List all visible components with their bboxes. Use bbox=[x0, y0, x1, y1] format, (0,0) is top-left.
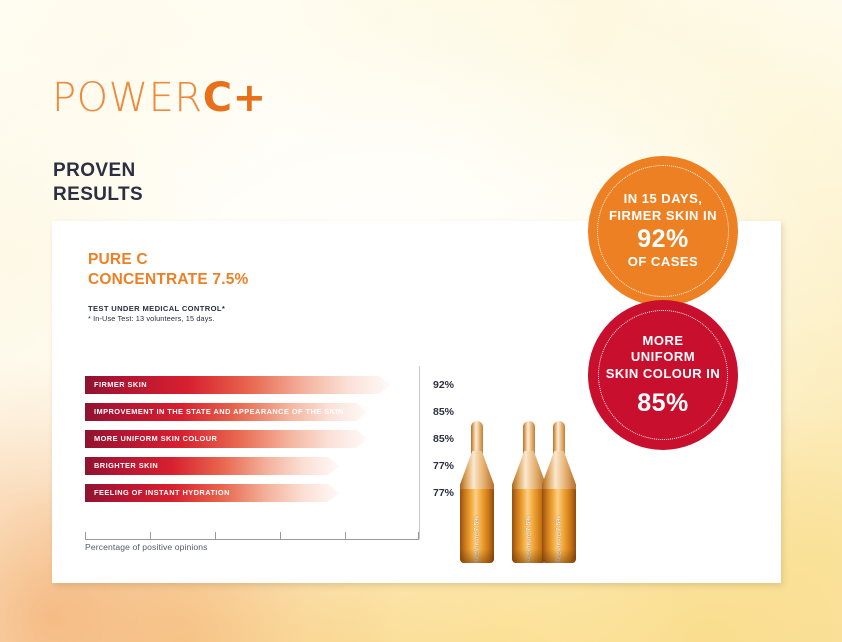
ampoule-label-name: PURE C CONCENTRATE bbox=[557, 533, 562, 563]
bar-label: FEELING OF INSTANT HYDRATION bbox=[94, 484, 230, 502]
table-row: MORE UNIFORM SKIN COLOUR 85% bbox=[85, 430, 475, 448]
ampoule-label-name: PURE C CONCENTRATE bbox=[475, 533, 480, 563]
ampoule-neck bbox=[471, 421, 483, 455]
bar-value: 77% bbox=[433, 457, 454, 475]
ampoule-body: PURE C CONCENTRATE 7.5% bbox=[542, 489, 576, 563]
test-disclaimer-heading: TEST UNDER MEDICAL CONTROL* bbox=[88, 304, 225, 314]
badge-line3: SKIN COLOUR IN bbox=[606, 366, 721, 383]
ampoule: PURE C CONCENTRATE 7.5% bbox=[460, 421, 494, 563]
bar-label: FIRMER SKIN bbox=[94, 376, 147, 394]
bar-track: BRIGHTER SKIN bbox=[85, 457, 340, 475]
test-disclaimer: TEST UNDER MEDICAL CONTROL* * In-Use Tes… bbox=[88, 304, 225, 325]
product-name: PURE C CONCENTRATE 7.5% bbox=[88, 250, 249, 290]
badge-value: 92% bbox=[609, 225, 717, 253]
table-row: BRIGHTER SKIN 77% bbox=[85, 457, 475, 475]
badge-line3: OF CASES bbox=[609, 254, 717, 271]
page-title-line2: RESULTS bbox=[53, 183, 143, 207]
ampoule-neck bbox=[523, 421, 535, 455]
badge-line1: IN 15 DAYS, bbox=[609, 191, 717, 208]
axis-tick bbox=[345, 532, 346, 539]
table-row: FIRMER SKIN 92% bbox=[85, 376, 475, 394]
axis-tick bbox=[215, 532, 216, 539]
ampoule-label: PURE C CONCENTRATE 7.5% bbox=[556, 515, 563, 563]
bar-label: MORE UNIFORM SKIN COLOUR bbox=[94, 430, 217, 448]
brand-logo: POWERC+ bbox=[52, 78, 267, 118]
page-title: PROVEN RESULTS bbox=[53, 159, 143, 207]
bar-value: 85% bbox=[433, 430, 454, 448]
bar-track: IMPROVEMENT IN THE STATE AND APPEARANCE … bbox=[85, 403, 368, 421]
status-badge-firmer-skin: IN 15 DAYS, FIRMER SKIN IN 92% OF CASES bbox=[588, 156, 738, 306]
test-disclaimer-note: * In-Use Test: 13 volunteers, 15 days. bbox=[88, 314, 225, 324]
bar-value: 92% bbox=[433, 376, 454, 394]
bar-label: IMPROVEMENT IN THE STATE AND APPEARANCE … bbox=[94, 403, 344, 421]
axis-tick bbox=[150, 532, 151, 539]
product-name-line1: PURE C bbox=[88, 250, 249, 270]
bar-value: 77% bbox=[433, 484, 454, 502]
bar-label: BRIGHTER SKIN bbox=[94, 457, 158, 475]
bar-track: FEELING OF INSTANT HYDRATION bbox=[85, 484, 340, 502]
table-row: IMPROVEMENT IN THE STATE AND APPEARANCE … bbox=[85, 403, 475, 421]
badge-line2: FIRMER SKIN IN bbox=[609, 208, 717, 225]
brand-logo-accent: C+ bbox=[203, 75, 267, 121]
results-bar-chart: FIRMER SKIN 92% IMPROVEMENT IN THE STATE… bbox=[85, 376, 475, 561]
badge-line1: MORE bbox=[606, 333, 721, 350]
chart-right-rule bbox=[419, 366, 420, 539]
ampoule: PURE C CONCENTRATE 7.5% bbox=[512, 421, 546, 563]
ampoule-label-pct: 7.5% bbox=[474, 515, 481, 531]
badge-text: MORE UNIFORM SKIN COLOUR IN 85% bbox=[606, 333, 721, 418]
chart-x-axis bbox=[85, 529, 419, 540]
badge-line2: UNIFORM bbox=[606, 349, 721, 366]
badge-text: IN 15 DAYS, FIRMER SKIN IN 92% OF CASES bbox=[609, 191, 717, 271]
ampoule-label: PURE C CONCENTRATE 7.5% bbox=[474, 515, 481, 563]
ampoule-body: PURE C CONCENTRATE 7.5% bbox=[512, 489, 546, 563]
ampoule-neck bbox=[553, 421, 565, 455]
ampoule-label-name: PURE C CONCENTRATE bbox=[527, 533, 532, 563]
table-row: FEELING OF INSTANT HYDRATION 77% bbox=[85, 484, 475, 502]
axis-tick bbox=[280, 532, 281, 539]
ampoule-label: PURE C CONCENTRATE 7.5% bbox=[526, 515, 533, 563]
bar-track: MORE UNIFORM SKIN COLOUR bbox=[85, 430, 368, 448]
bar-track: FIRMER SKIN bbox=[85, 376, 391, 394]
bar-value: 85% bbox=[433, 403, 454, 421]
chart-axis-label: Percentage of positive opinions bbox=[85, 542, 208, 552]
ampoule-body: PURE C CONCENTRATE 7.5% bbox=[460, 489, 494, 563]
ampoule: PURE C CONCENTRATE 7.5% bbox=[542, 421, 576, 563]
status-badge-skin-colour: MORE UNIFORM SKIN COLOUR IN 85% bbox=[588, 300, 738, 450]
axis-tick bbox=[418, 532, 419, 539]
page-title-line1: PROVEN bbox=[53, 159, 143, 183]
axis-tick bbox=[85, 532, 86, 539]
ampoule-label-pct: 7.5% bbox=[526, 515, 533, 531]
product-name-line2: CONCENTRATE 7.5% bbox=[88, 270, 249, 290]
ampoule-label-pct: 7.5% bbox=[556, 515, 563, 531]
badge-value: 85% bbox=[606, 389, 721, 417]
brand-logo-primary: POWER bbox=[52, 75, 203, 121]
